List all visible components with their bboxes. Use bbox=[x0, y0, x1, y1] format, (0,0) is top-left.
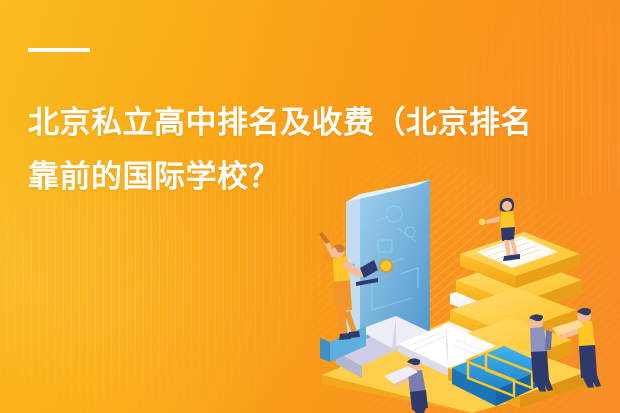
page-title: 北京私立高中排名及收费（北京排名靠前的国际学校？ bbox=[28, 96, 538, 204]
promo-banner: 北京私立高中排名及收费（北京排名靠前的国际学校？ bbox=[0, 0, 620, 413]
decorative-rule bbox=[28, 48, 90, 52]
illustration-isometric-books bbox=[300, 170, 620, 413]
headline-block: 北京私立高中排名及收费（北京排名靠前的国际学校？ bbox=[28, 48, 568, 204]
